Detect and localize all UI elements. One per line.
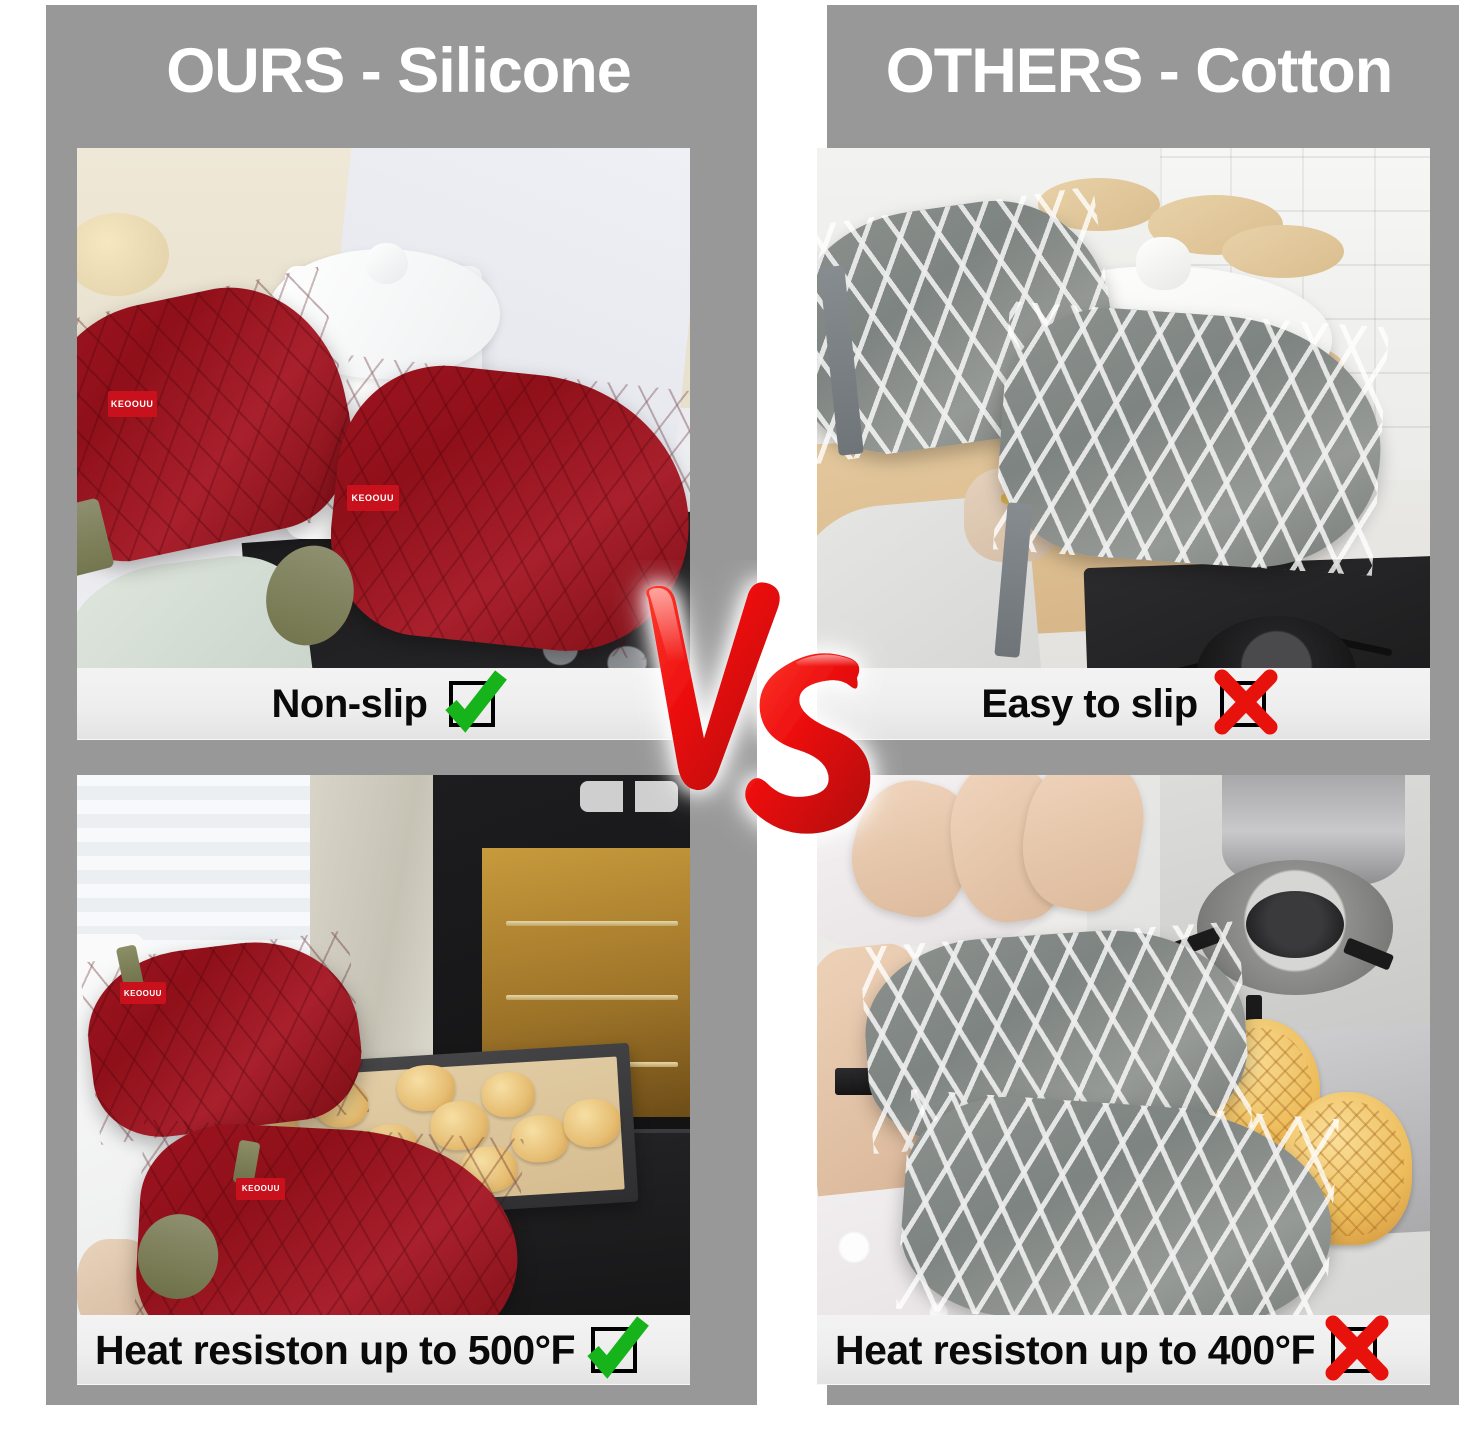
cross-mark-icon	[1220, 681, 1266, 727]
others-heat-caption-text: Heat resiston up to 400°F	[835, 1327, 1315, 1374]
others-grip-caption-text: Easy to slip	[981, 682, 1197, 727]
brand-tag: KEOOUU	[236, 1178, 285, 1200]
ours-grip-photo: KEOOUU KEOOUU	[77, 148, 690, 740]
brand-tag: KEOOUU	[347, 485, 399, 511]
others-heat-card: Heat resiston up to 400°F	[817, 775, 1430, 1385]
ours-column-header: OURS - Silicone	[46, 28, 757, 114]
brand-tag: KEOOUU	[108, 391, 157, 417]
others-column-header: OTHERS - Cotton	[827, 28, 1459, 114]
others-grip-card: Easy to slip	[817, 148, 1430, 740]
ours-heat-card: KEOOUU KEOOUU Heat resiston up to 500°F	[77, 775, 690, 1385]
ours-grip-caption-text: Non-slip	[272, 682, 428, 727]
cross-mark-icon	[1331, 1327, 1377, 1373]
others-grip-caption-bar: Easy to slip	[817, 668, 1430, 740]
others-heat-caption-bar: Heat resiston up to 400°F	[817, 1315, 1430, 1385]
ours-grip-caption-bar: Non-slip	[77, 668, 690, 740]
brand-tag: KEOOUU	[120, 982, 166, 1004]
ours-heat-photo: KEOOUU KEOOUU	[77, 775, 690, 1385]
ours-heat-caption-bar: Heat resiston up to 500°F	[77, 1315, 690, 1385]
others-grip-photo	[817, 148, 1430, 740]
check-mark-icon	[591, 1327, 637, 1373]
others-heat-photo	[817, 775, 1430, 1385]
ours-grip-card: KEOOUU KEOOUU Non-slip	[77, 148, 690, 740]
ours-heat-caption-text: Heat resiston up to 500°F	[95, 1327, 575, 1374]
check-mark-icon	[449, 681, 495, 727]
comparison-infographic: OURS - Silicone OTHERS - Cotton KEOOUU K…	[0, 0, 1459, 1451]
